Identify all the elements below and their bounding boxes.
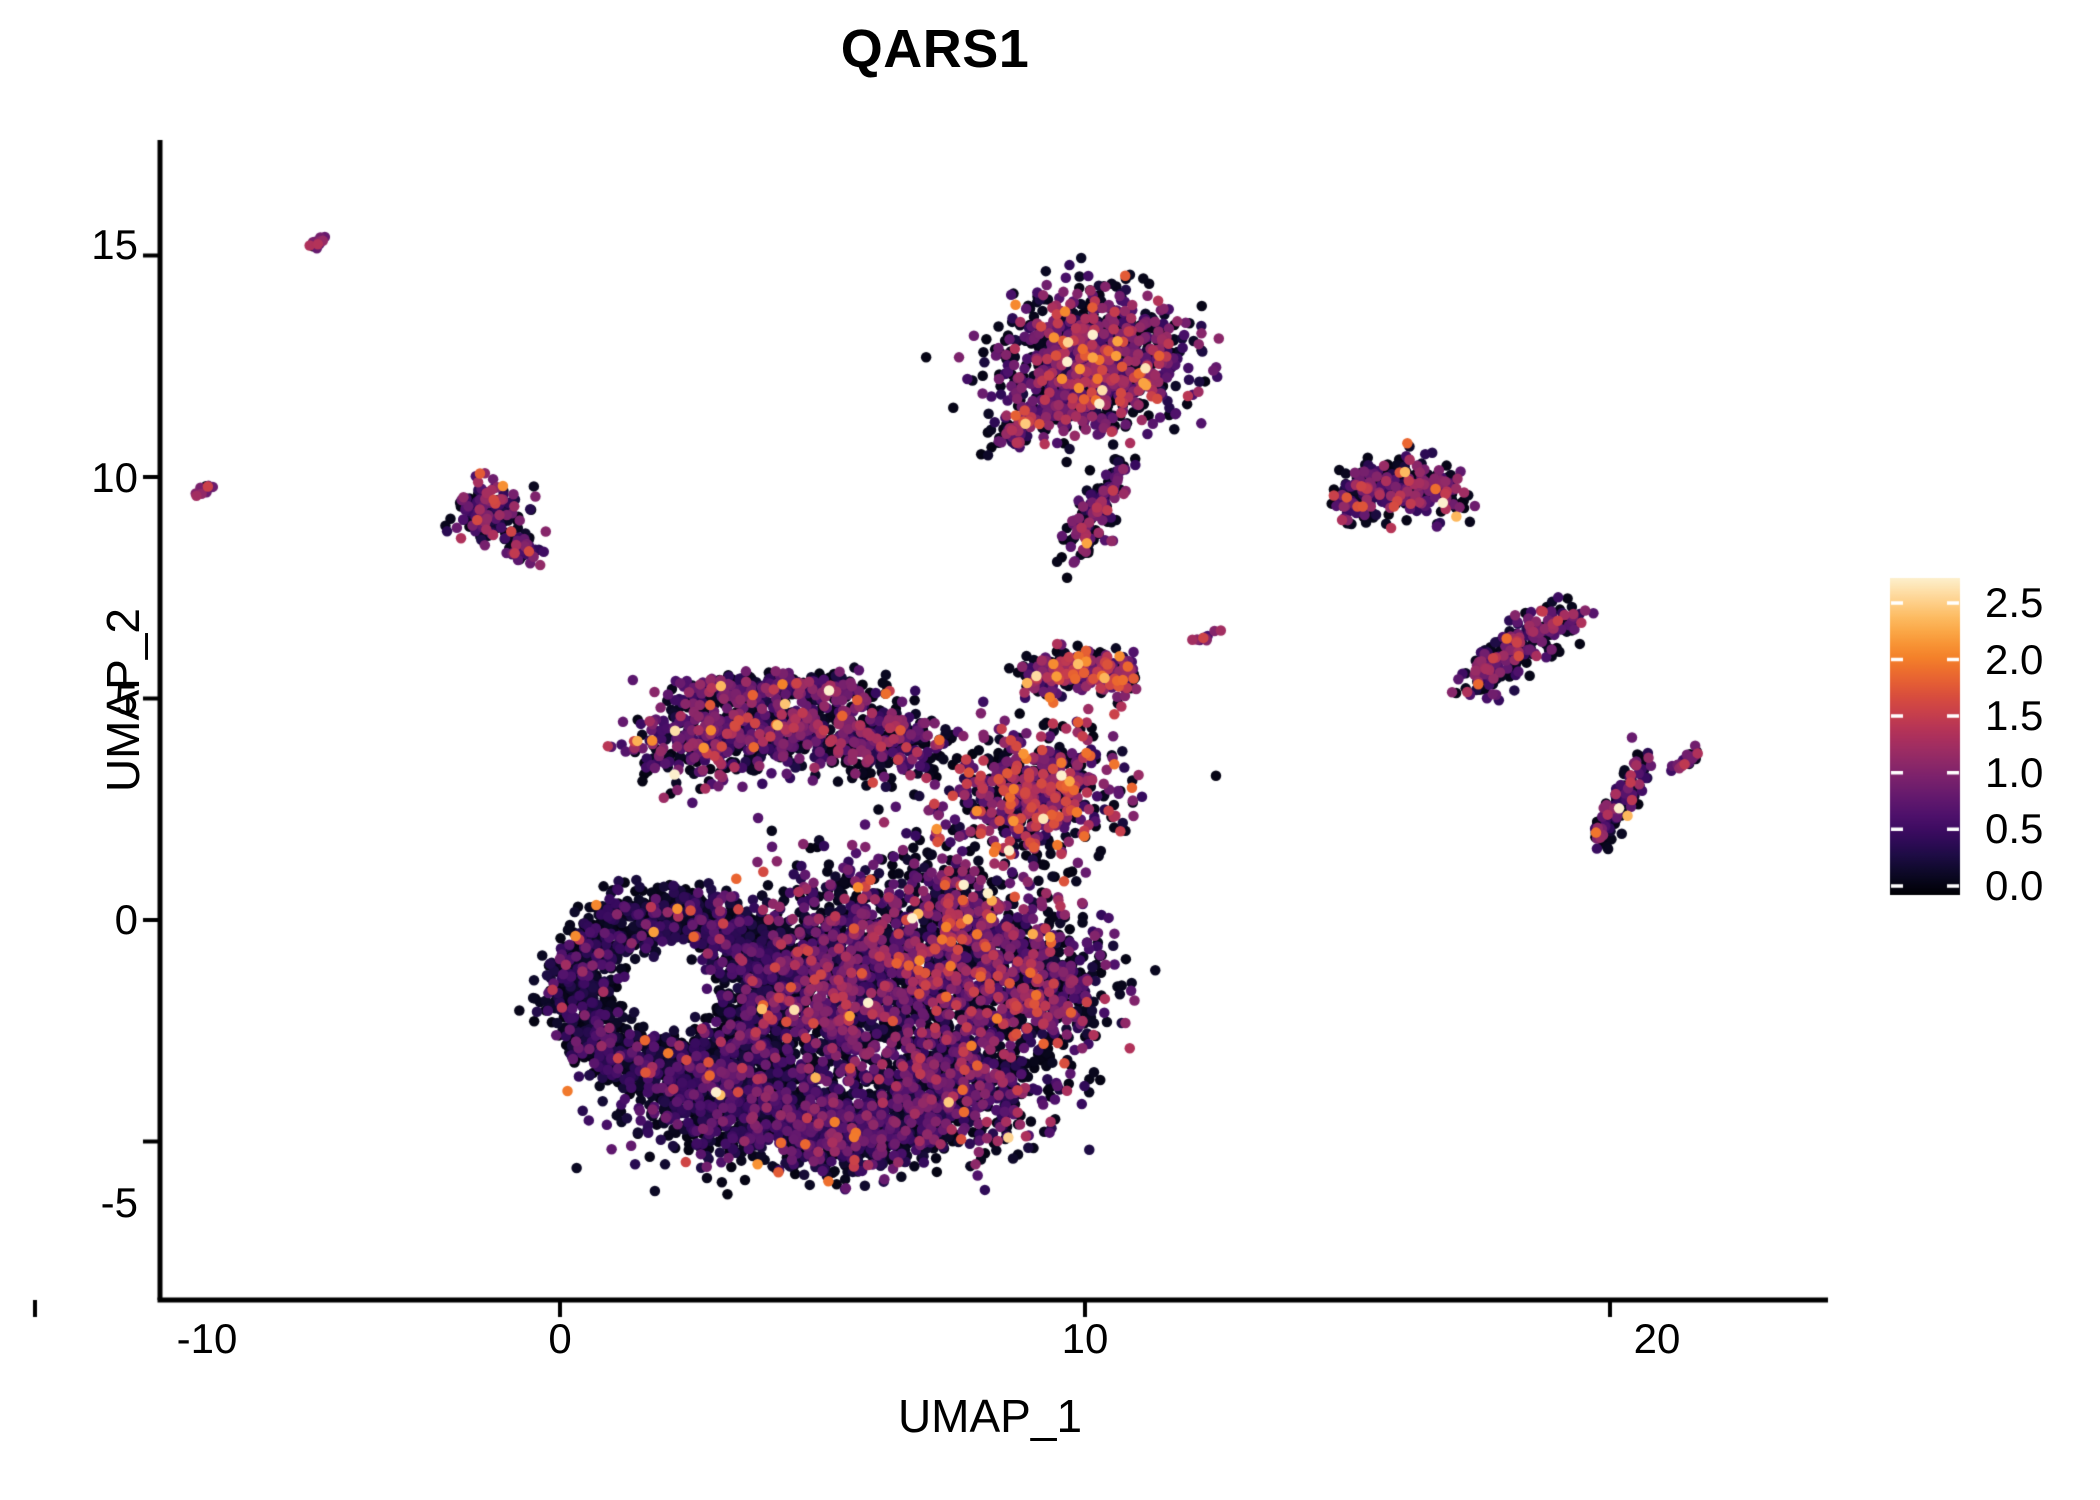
- y-tick-label-2: 5: [115, 679, 138, 721]
- chart-root: QARS1 UMAP_1 UMAP_2 -10 0 10 20 -5 0 5 1…: [0, 0, 2100, 1500]
- y-tick-label-1: 0: [115, 899, 138, 941]
- x-tick-label-1: 0: [548, 1318, 571, 1360]
- colorbar-tick-label-0.0: 0.0: [1985, 865, 2043, 907]
- y-tick-label-4: 15: [91, 224, 138, 266]
- x-tick-label-0: -10: [177, 1318, 238, 1360]
- colorbar-tick-label-1.5: 1.5: [1985, 695, 2043, 737]
- colorbar-tick-label-1.0: 1.0: [1985, 752, 2043, 794]
- colorbar-tick-label-2.0: 2.0: [1985, 639, 2043, 681]
- umap-scatter-canvas: [0, 0, 2100, 1500]
- colorbar-tick-label-2.5: 2.5: [1985, 582, 2043, 624]
- colorbar-tick-label-0.5: 0.5: [1985, 808, 2043, 850]
- plot-area: [0, 0, 2100, 1500]
- y-tick-label-0: -5: [101, 1182, 138, 1224]
- y-tick-label-3: 10: [91, 457, 138, 499]
- x-tick-label-3: 20: [1634, 1318, 1681, 1360]
- x-tick-label-2: 10: [1062, 1318, 1109, 1360]
- x-axis-title: UMAP_1: [150, 1393, 1830, 1439]
